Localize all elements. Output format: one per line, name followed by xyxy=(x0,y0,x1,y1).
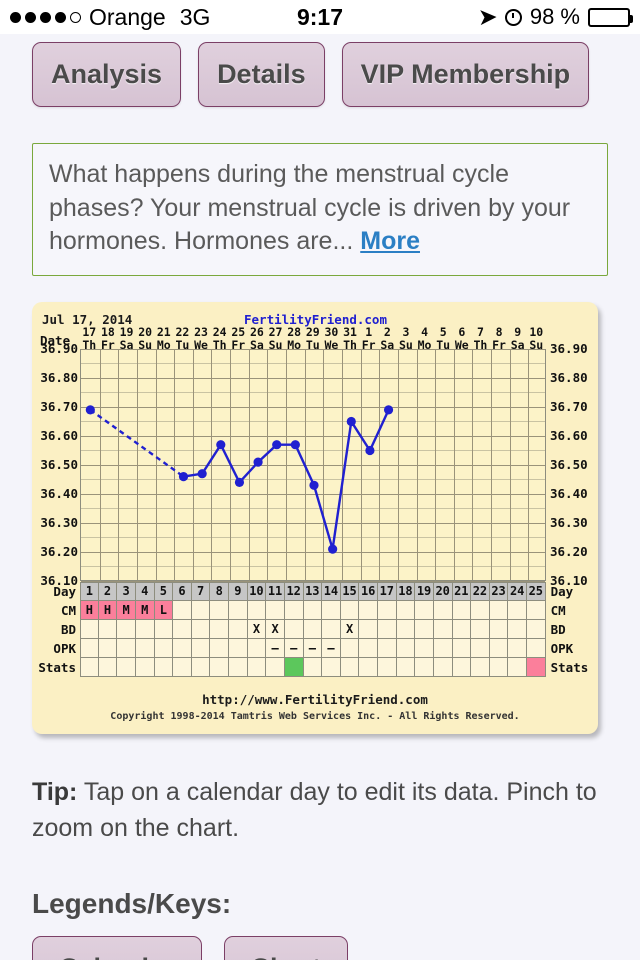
chart-row-opk[interactable]: OPK––––OPK xyxy=(80,639,546,658)
chart-cell[interactable] xyxy=(304,658,323,677)
day-header-cell[interactable]: 21 xyxy=(453,582,472,601)
day-header-cell[interactable]: 5 xyxy=(155,582,174,601)
data-point xyxy=(328,544,337,553)
chart-cell[interactable] xyxy=(415,639,434,658)
y-axis-tick-right: 36.40 xyxy=(550,486,596,501)
chart-cell[interactable] xyxy=(99,620,118,639)
chart-cell[interactable] xyxy=(397,620,416,639)
y-axis-tick-right: 36.70 xyxy=(550,399,596,414)
chart-cell[interactable] xyxy=(378,658,397,677)
chart-cell[interactable] xyxy=(192,601,211,620)
chart-cell[interactable] xyxy=(508,639,527,658)
chart-cell[interactable] xyxy=(136,620,155,639)
chart-cell[interactable] xyxy=(322,658,341,677)
day-header-cell[interactable]: 25 xyxy=(527,582,546,601)
y-axis-tick-left: 36.20 xyxy=(34,544,78,559)
chart-cell[interactable] xyxy=(99,658,118,677)
day-header-cell[interactable]: 3 xyxy=(117,582,136,601)
day-header-cell[interactable]: 23 xyxy=(490,582,509,601)
chart-cell[interactable] xyxy=(490,601,509,620)
chart-cell[interactable] xyxy=(434,639,453,658)
chart-cell[interactable] xyxy=(173,658,192,677)
y-axis-tick-right: 36.50 xyxy=(550,457,596,472)
chart-cell[interactable] xyxy=(117,658,136,677)
day-header-cell[interactable]: 15 xyxy=(341,582,360,601)
y-axis-tick-right: 36.30 xyxy=(550,515,596,530)
chart-cell[interactable] xyxy=(359,658,378,677)
chart-cell[interactable] xyxy=(229,601,248,620)
chart-cell[interactable] xyxy=(80,620,99,639)
chart-cell[interactable] xyxy=(80,658,99,677)
row-label-right: BD xyxy=(546,620,566,639)
chart-cell[interactable] xyxy=(453,601,472,620)
day-header-cell[interactable]: 24 xyxy=(508,582,527,601)
info-box-text: What happens during the menstrual cycle … xyxy=(49,160,570,255)
chart-cell[interactable]: – xyxy=(266,639,285,658)
chart-cell[interactable]: X xyxy=(266,620,285,639)
chart-cell[interactable] xyxy=(415,658,434,677)
chart-cell[interactable] xyxy=(285,620,304,639)
day-header-cell[interactable]: 10 xyxy=(248,582,267,601)
tab-analysis[interactable]: Analysis xyxy=(32,42,181,107)
chart-cell[interactable] xyxy=(248,601,267,620)
chart-cell[interactable] xyxy=(527,601,546,620)
chart-url-label: http://www.FertilityFriend.com xyxy=(32,692,598,707)
y-axis-tick-left: 36.40 xyxy=(34,486,78,501)
legend-button-calendar[interactable]: Calendar xyxy=(32,936,202,960)
chart-cell[interactable] xyxy=(415,620,434,639)
chart-cell[interactable] xyxy=(136,658,155,677)
day-header-cell[interactable]: 22 xyxy=(471,582,490,601)
chart-cell[interactable]: – xyxy=(322,639,341,658)
tab-details[interactable]: Details xyxy=(198,42,325,107)
row-label-right: Day xyxy=(546,582,574,601)
status-bar: Orange 3G 9:17 ➤ 98 % xyxy=(0,0,640,34)
row-label-right: CM xyxy=(546,601,566,620)
chart-cell[interactable] xyxy=(434,601,453,620)
chart-cell[interactable] xyxy=(527,639,546,658)
chart-cell[interactable] xyxy=(453,639,472,658)
chart-cell[interactable] xyxy=(434,658,453,677)
chart-cell[interactable]: H xyxy=(80,601,99,620)
chart-cell[interactable]: X xyxy=(248,620,267,639)
chart-cell[interactable]: H xyxy=(99,601,118,620)
chart-cell[interactable] xyxy=(527,658,546,677)
row-label-left: CM xyxy=(34,601,80,620)
data-point xyxy=(216,440,225,449)
row-label-left: Stats xyxy=(34,658,80,677)
chart-cell[interactable]: M xyxy=(117,601,136,620)
chart-cell[interactable] xyxy=(490,639,509,658)
info-box: What happens during the menstrual cycle … xyxy=(32,143,608,276)
y-axis-tick-left: 36.90 xyxy=(34,341,78,356)
chart-cell[interactable] xyxy=(285,658,304,677)
battery-percent-label: 98 % xyxy=(530,4,580,30)
chart-cell[interactable] xyxy=(434,620,453,639)
chart-cell[interactable] xyxy=(508,601,527,620)
y-axis-tick-left: 36.70 xyxy=(34,399,78,414)
chart-cell[interactable] xyxy=(471,601,490,620)
chart-row-day[interactable]: Day1234567891011121314151617181920212223… xyxy=(80,582,546,601)
chart-cell[interactable] xyxy=(359,639,378,658)
day-header-cell[interactable]: 19 xyxy=(415,582,434,601)
tip-body: Tap on a calendar day to edit its data. … xyxy=(32,778,597,842)
chart-cell[interactable] xyxy=(229,620,248,639)
chart-cell[interactable] xyxy=(397,601,416,620)
temperature-series xyxy=(81,349,547,581)
chart-cell[interactable] xyxy=(173,601,192,620)
chart-cell[interactable] xyxy=(80,639,99,658)
chart-cell[interactable] xyxy=(210,620,229,639)
chart-cell[interactable] xyxy=(453,658,472,677)
chart-cell[interactable] xyxy=(490,658,509,677)
location-arrow-icon: ➤ xyxy=(479,4,497,30)
legend-button-chart[interactable]: Chart xyxy=(224,936,349,960)
chart-cell[interactable] xyxy=(173,639,192,658)
chart-cell[interactable] xyxy=(266,658,285,677)
day-header-cell[interactable]: 16 xyxy=(359,582,378,601)
chart-cell[interactable] xyxy=(453,620,472,639)
chart-cell[interactable] xyxy=(471,639,490,658)
chart-cell[interactable] xyxy=(192,639,211,658)
plot-area[interactable] xyxy=(80,349,546,581)
legend-button-row: Calendar Chart xyxy=(32,936,608,960)
chart-cell[interactable] xyxy=(397,639,416,658)
day-header-cell[interactable]: 1 xyxy=(80,582,99,601)
chart-cell[interactable] xyxy=(210,639,229,658)
chart-cell[interactable] xyxy=(378,601,397,620)
day-header-cell[interactable]: 20 xyxy=(434,582,453,601)
chart-cell[interactable] xyxy=(248,658,267,677)
chart-cell[interactable] xyxy=(397,658,416,677)
chart-cell[interactable] xyxy=(155,658,174,677)
chart-cell[interactable] xyxy=(322,620,341,639)
chart-cell[interactable] xyxy=(378,639,397,658)
y-axis-tick-left: 36.60 xyxy=(34,428,78,443)
fertility-chart[interactable]: Jul 17, 2014 FertilityFriend.com Date 17… xyxy=(32,302,598,734)
chart-cell[interactable] xyxy=(285,601,304,620)
y-axis-tick-left: 36.30 xyxy=(34,515,78,530)
data-point xyxy=(291,440,300,449)
tip-text: Tip: Tap on a calendar day to edit its d… xyxy=(32,774,608,847)
tab-vip-membership[interactable]: VIP Membership xyxy=(342,42,590,107)
day-header-cell[interactable]: 17 xyxy=(378,582,397,601)
data-point xyxy=(86,405,95,414)
chart-cell[interactable] xyxy=(136,639,155,658)
chart-cell[interactable] xyxy=(471,658,490,677)
chart-cell[interactable]: M xyxy=(136,601,155,620)
chart-cell[interactable] xyxy=(471,620,490,639)
chart-row-cm[interactable]: CMHHMMLCM xyxy=(80,601,546,620)
chart-cell[interactable] xyxy=(378,620,397,639)
battery-icon xyxy=(588,8,630,27)
row-label-left: Day xyxy=(34,582,80,601)
chart-data-rows[interactable]: Day1234567891011121314151617181920212223… xyxy=(80,582,546,678)
day-header-cell[interactable]: 14 xyxy=(322,582,341,601)
chart-cell[interactable] xyxy=(155,639,174,658)
chart-cell[interactable] xyxy=(117,620,136,639)
chart-cell[interactable] xyxy=(341,601,360,620)
legends-title: Legends/Keys: xyxy=(32,888,608,920)
data-point xyxy=(235,477,244,486)
chart-cell[interactable] xyxy=(99,639,118,658)
chart-cell[interactable] xyxy=(117,639,136,658)
day-header-cell[interactable]: 6 xyxy=(173,582,192,601)
chart-cell[interactable] xyxy=(508,620,527,639)
info-more-link[interactable]: More xyxy=(360,227,420,255)
chart-cell[interactable]: L xyxy=(155,601,174,620)
chart-cell[interactable] xyxy=(192,620,211,639)
chart-cell[interactable] xyxy=(341,658,360,677)
chart-cell[interactable] xyxy=(229,639,248,658)
y-axis-tick-left: 36.50 xyxy=(34,457,78,472)
chart-cell[interactable] xyxy=(527,620,546,639)
day-header-cell[interactable]: 18 xyxy=(397,582,416,601)
chart-cell[interactable] xyxy=(266,601,285,620)
data-point xyxy=(384,405,393,414)
day-header-cell[interactable]: 4 xyxy=(136,582,155,601)
chart-cell[interactable] xyxy=(415,601,434,620)
data-point xyxy=(179,472,188,481)
chart-copyright-label: Copyright 1998-2014 Tamtris Web Services… xyxy=(32,711,598,722)
y-axis-tick-left: 36.80 xyxy=(34,370,78,385)
row-label-right: OPK xyxy=(546,639,574,658)
chart-cell[interactable] xyxy=(155,620,174,639)
chart-cell[interactable] xyxy=(490,620,509,639)
data-point xyxy=(365,445,374,454)
data-point xyxy=(309,480,318,489)
data-point xyxy=(198,469,207,478)
data-point xyxy=(347,416,356,425)
chart-cell[interactable] xyxy=(210,658,229,677)
chart-row-stats[interactable]: StatsStats xyxy=(80,658,546,677)
chart-cell[interactable] xyxy=(508,658,527,677)
day-header-cell[interactable]: 7 xyxy=(192,582,211,601)
chart-cell[interactable] xyxy=(359,620,378,639)
chart-cell[interactable]: – xyxy=(304,639,323,658)
y-axis-tick-right: 36.20 xyxy=(550,544,596,559)
day-header-cell[interactable]: 2 xyxy=(99,582,118,601)
row-label-right: Stats xyxy=(546,658,589,677)
chart-cell[interactable] xyxy=(322,601,341,620)
alarm-clock-icon xyxy=(505,9,522,26)
chart-cell[interactable] xyxy=(210,601,229,620)
day-header-cell[interactable]: 12 xyxy=(285,582,304,601)
chart-cell[interactable]: X xyxy=(341,620,360,639)
chart-cell[interactable] xyxy=(173,620,192,639)
day-header-cell[interactable]: 13 xyxy=(304,582,323,601)
data-point xyxy=(253,457,262,466)
chart-cell[interactable] xyxy=(304,601,323,620)
chart-row-bd[interactable]: BDXXXBD xyxy=(80,620,546,639)
dashed-connector xyxy=(90,409,183,476)
chart-cell[interactable] xyxy=(248,639,267,658)
row-label-left: OPK xyxy=(34,639,80,658)
chart-cell[interactable] xyxy=(304,620,323,639)
chart-cell[interactable] xyxy=(192,658,211,677)
tab-bar: Analysis Details VIP Membership xyxy=(32,34,608,107)
tip-prefix: Tip: xyxy=(32,778,77,806)
day-header-cell[interactable]: 8 xyxy=(210,582,229,601)
day-header-cell[interactable]: 11 xyxy=(266,582,285,601)
chart-cell[interactable] xyxy=(341,639,360,658)
chart-cell[interactable] xyxy=(359,601,378,620)
chart-cell[interactable]: – xyxy=(285,639,304,658)
chart-cell[interactable] xyxy=(229,658,248,677)
day-header-cell[interactable]: 9 xyxy=(229,582,248,601)
y-axis-tick-right: 36.60 xyxy=(550,428,596,443)
row-label-left: BD xyxy=(34,620,80,639)
data-point xyxy=(272,440,281,449)
y-axis-tick-right: 36.80 xyxy=(550,370,596,385)
y-axis-tick-right: 36.90 xyxy=(550,341,596,356)
